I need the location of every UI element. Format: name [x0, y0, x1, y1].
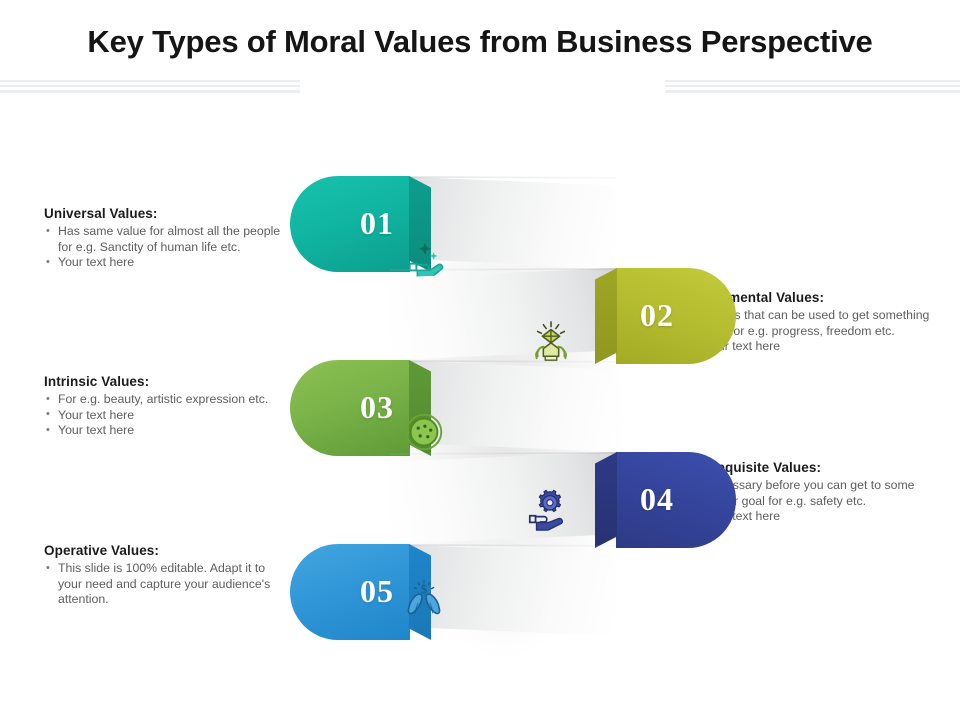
title-divider-left-2	[0, 85, 300, 87]
title-divider-right-2	[665, 85, 960, 87]
hand-gear-icon	[525, 486, 571, 532]
page-title: Key Types of Moral Values from Business …	[0, 24, 960, 60]
badge-side-face	[595, 268, 617, 364]
zigzag-ribbon-diagram: 01 02	[280, 168, 680, 668]
step-badge-05[interactable]: 05	[290, 544, 410, 640]
badge-side-face	[595, 452, 617, 548]
text-block-universal-values: Universal Values: Has same value for alm…	[44, 206, 294, 271]
text-block-operative-values: Operative Values: This slide is 100% edi…	[44, 543, 276, 608]
list-item: This slide is 100% editable. Adapt it to…	[44, 561, 276, 608]
svg-text:$: $	[421, 582, 427, 596]
list-item: For e.g. beauty, artistic expression etc…	[44, 392, 296, 408]
step-number-05: 05	[360, 573, 394, 610]
bullet-list-intrinsic-values: For e.g. beauty, artistic expression etc…	[44, 392, 296, 439]
hands-money-icon: $	[401, 576, 447, 622]
badge-body	[616, 452, 736, 548]
panel-face	[390, 268, 616, 360]
list-item: Your text here	[44, 408, 296, 424]
text-block-intrinsic-values: Intrinsic Values: For e.g. beauty, artis…	[44, 374, 296, 439]
list-item: Your text here	[44, 423, 296, 439]
heading-universal-values: Universal Values:	[44, 206, 294, 221]
ribbon-panel-04	[390, 452, 616, 544]
step-number-02: 02	[640, 297, 674, 334]
step-badge-02[interactable]: 02	[616, 268, 736, 364]
ribbon-panel-02	[390, 268, 616, 360]
panel-face	[390, 452, 616, 544]
step-badge-04[interactable]: 04	[616, 452, 736, 548]
bullet-list-operative-values: This slide is 100% editable. Adapt it to…	[44, 561, 276, 608]
title-divider-right-3	[665, 90, 960, 93]
step-number-03: 03	[360, 389, 394, 426]
circle-dots-icon	[401, 409, 447, 455]
title-divider-left-3	[0, 90, 300, 93]
heading-operative-values: Operative Values:	[44, 543, 276, 558]
title-divider-left-1	[0, 80, 300, 82]
heading-intrinsic-values: Intrinsic Values:	[44, 374, 296, 389]
list-item: Has same value for almost all the people…	[44, 224, 294, 255]
badge-body	[616, 268, 736, 364]
list-item: Your text here	[44, 255, 294, 271]
step-badge-03[interactable]: 03	[290, 360, 410, 456]
step-number-01: 01	[360, 205, 394, 242]
step-number-04: 04	[640, 481, 674, 518]
hands-growth-icon	[528, 318, 574, 364]
bullet-list-universal-values: Has same value for almost all the people…	[44, 224, 294, 271]
title-divider-right-1	[665, 80, 960, 82]
step-badge-01[interactable]: 01	[290, 176, 410, 272]
